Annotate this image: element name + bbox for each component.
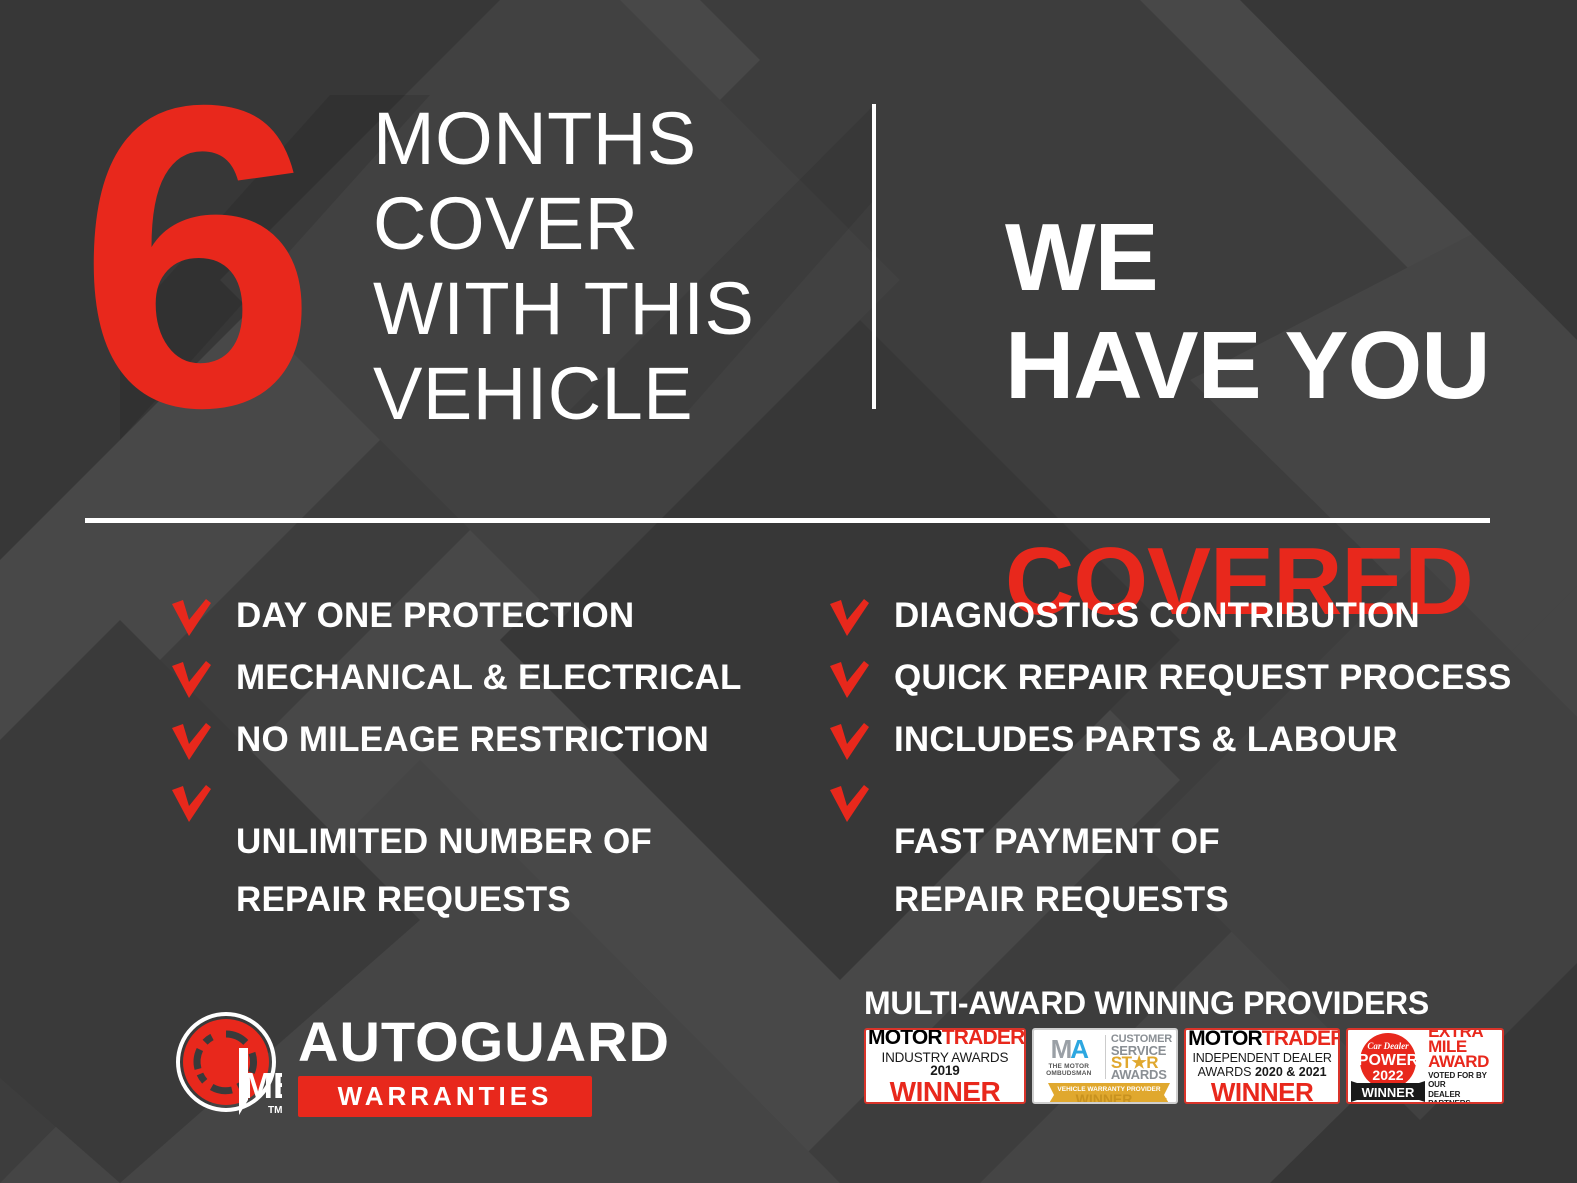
awards-title: MULTI-AWARD WINNING PROVIDERS bbox=[864, 986, 1504, 1020]
check-icon bbox=[828, 784, 870, 824]
check-icon bbox=[828, 722, 870, 762]
badge-brand: MOTORTRADER bbox=[868, 1028, 1022, 1048]
badge-brand-black: MOTOR bbox=[868, 1028, 942, 1049]
check-icon bbox=[828, 660, 870, 700]
feature-label: FAST PAYMENT OF bbox=[894, 822, 1220, 861]
feature-item: DIAGNOSTICS CONTRIBUTION bbox=[828, 596, 1528, 654]
award-badge-car-dealer-power-2022: Car Dealer POWER 2022 WINNER EXTRA MILE … bbox=[1346, 1028, 1504, 1104]
cover-duration-number: 6 bbox=[78, 42, 303, 472]
award-badge-motor-trader-2019: MOTORTRADER INDUSTRY AWARDS 2019 WINNER bbox=[864, 1028, 1026, 1104]
check-icon bbox=[170, 598, 212, 638]
badge-ribbon: VEHICLE WARRANTY PROVIDER WINNER bbox=[1034, 1081, 1176, 1104]
feature-item: INCLUDES PARTS & LABOUR bbox=[828, 720, 1528, 778]
badge-brand: MOTORTRADER bbox=[1188, 1028, 1336, 1049]
feature-label: QUICK REPAIR REQUEST PROCESS bbox=[894, 658, 1512, 698]
ombudsman-caption: THE MOTOR OMBUDSMAN bbox=[1038, 1063, 1100, 1078]
feature-item: FAST PAYMENT OF REPAIR REQUESTS bbox=[828, 782, 1528, 960]
feature-label-group: UNLIMITED NUMBER OF REPAIR REQUESTS bbox=[236, 782, 652, 960]
feature-label: DIAGNOSTICS CONTRIBUTION bbox=[894, 596, 1420, 636]
badge-brand-red: TRADER bbox=[942, 1028, 1025, 1049]
badge-award-sub: VOTED FOR BY OUR DEALER PARTNERS bbox=[1428, 1071, 1499, 1105]
brand-subtitle: WARRANTIES bbox=[298, 1076, 592, 1117]
badge-brand-red: TRADER bbox=[1262, 1028, 1340, 1050]
power-2022-seal-icon: Car Dealer POWER 2022 WINNER bbox=[1351, 1030, 1425, 1102]
awards-section: MULTI-AWARD WINNING PROVIDERS MOTORTRADE… bbox=[864, 986, 1504, 1104]
svg-text:Car Dealer: Car Dealer bbox=[1367, 1041, 1409, 1051]
feature-label-group: FAST PAYMENT OF REPAIR REQUESTS bbox=[894, 782, 1229, 960]
badge-line: INDUSTRY AWARDS 2019 bbox=[868, 1051, 1022, 1078]
feature-label: UNLIMITED NUMBER OF bbox=[236, 822, 652, 861]
feature-label: DAY ONE PROTECTION bbox=[236, 596, 634, 636]
feature-column-left: DAY ONE PROTECTION MECHANICAL & ELECTRIC… bbox=[170, 596, 810, 964]
badge-separator bbox=[1105, 1035, 1106, 1079]
svg-text:MBi: MBi bbox=[243, 1065, 282, 1106]
feature-label-continuation: REPAIR REQUESTS bbox=[236, 880, 652, 920]
feature-item: NO MILEAGE RESTRICTION bbox=[170, 720, 810, 778]
mbi-logo-icon: MBi TM bbox=[176, 1012, 282, 1118]
feature-item: UNLIMITED NUMBER OF REPAIR REQUESTS bbox=[170, 782, 810, 960]
ombudsman-mark-right: A bbox=[1070, 1034, 1087, 1064]
svg-text:2022: 2022 bbox=[1372, 1067, 1403, 1083]
badge-result: WINNER bbox=[1188, 1079, 1336, 1105]
badge-award-title: EXTRA MILE AWARD bbox=[1428, 1028, 1499, 1069]
badge-line: INDEPENDENT DEALER bbox=[1188, 1052, 1336, 1065]
header-section: 6 MONTHS COVER WITH THIS VEHICLE WE HAVE… bbox=[0, 0, 1577, 500]
feature-label-continuation: REPAIR REQUESTS bbox=[894, 880, 1229, 920]
award-badges-row: MOTORTRADER INDUSTRY AWARDS 2019 WINNER … bbox=[864, 1028, 1504, 1104]
svg-text:WINNER: WINNER bbox=[1362, 1085, 1415, 1100]
feature-item: DAY ONE PROTECTION bbox=[170, 596, 810, 654]
ombudsman-mark-icon: MA bbox=[1038, 1037, 1100, 1061]
vertical-divider bbox=[872, 104, 876, 409]
award-badge-motor-trader-2020-2021: MOTORTRADER INDEPENDENT DEALER AWARDS 20… bbox=[1184, 1028, 1340, 1104]
feature-item: QUICK REPAIR REQUEST PROCESS bbox=[828, 658, 1528, 716]
feature-label: MECHANICAL & ELECTRICAL bbox=[236, 658, 742, 698]
headline-right-white: WE HAVE YOU bbox=[1005, 204, 1490, 420]
feature-column-right: DIAGNOSTICS CONTRIBUTION QUICK REPAIR RE… bbox=[828, 596, 1528, 964]
badge-brand-black: MOTOR bbox=[1188, 1028, 1262, 1050]
feature-label: NO MILEAGE RESTRICTION bbox=[236, 720, 709, 760]
badge-result: WINNER bbox=[868, 1078, 1022, 1105]
svg-text:WINNER: WINNER bbox=[1075, 1091, 1132, 1104]
headline-left: MONTHS COVER WITH THIS VEHICLE bbox=[373, 96, 754, 436]
feature-label: INCLUDES PARTS & LABOUR bbox=[894, 720, 1398, 760]
feature-item: MECHANICAL & ELECTRICAL bbox=[170, 658, 810, 716]
svg-text:TM: TM bbox=[268, 1105, 282, 1116]
badge-line-4: AWARDS bbox=[1111, 1069, 1172, 1081]
brand-wordmark: AUTOGUARD WARRANTIES bbox=[298, 1014, 670, 1117]
check-icon bbox=[170, 784, 212, 824]
ombudsman-mark-left: M bbox=[1051, 1034, 1071, 1064]
award-badge-motor-ombudsman: MA THE MOTOR OMBUDSMAN CUSTOMER SERVICE … bbox=[1032, 1028, 1178, 1104]
check-icon bbox=[170, 660, 212, 700]
check-icon bbox=[170, 722, 212, 762]
horizontal-divider bbox=[85, 518, 1490, 523]
autoguard-brand-logo: MBi TM AUTOGUARD WARRANTIES bbox=[176, 1012, 670, 1118]
check-icon bbox=[828, 598, 870, 638]
brand-name: AUTOGUARD bbox=[298, 1014, 670, 1070]
